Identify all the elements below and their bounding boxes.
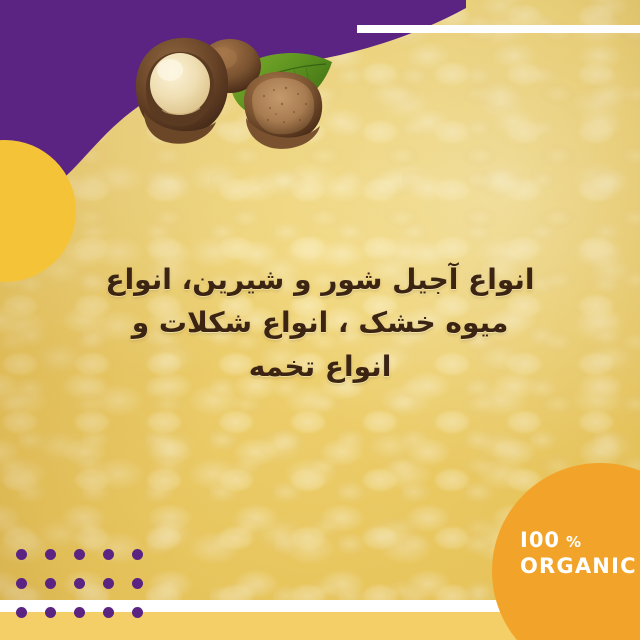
- organic-badge-percent-line: I00%: [520, 528, 640, 552]
- dot: [132, 578, 143, 589]
- headline-line-1: انواع آجیل شور و شیرین، انواع: [60, 258, 580, 301]
- dot: [103, 578, 114, 589]
- organic-badge-text: I00% ORGANIC: [520, 528, 640, 579]
- dot: [16, 607, 27, 618]
- page-title: انواع آجیل شور و شیرین، انواع میوه خشک ،…: [60, 258, 580, 388]
- hazelnuts-image: [118, 26, 362, 156]
- dot: [45, 607, 56, 618]
- organic-badge-word: ORGANIC: [520, 554, 640, 579]
- headline-line-2: میوه خشک ، انواع شکلات و: [60, 301, 580, 344]
- percent-sign: %: [566, 533, 582, 551]
- dot: [45, 549, 56, 560]
- dot: [74, 578, 85, 589]
- dot: [74, 607, 85, 618]
- dot: [16, 578, 27, 589]
- promo-poster: انواع آجیل شور و شیرین، انواع میوه خشک ،…: [0, 0, 640, 640]
- dot: [132, 607, 143, 618]
- dot: [16, 549, 27, 560]
- organic-badge-number: I00: [520, 528, 560, 552]
- dot: [74, 549, 85, 560]
- dot: [132, 549, 143, 560]
- top-white-stripe: [357, 25, 640, 33]
- dot: [45, 578, 56, 589]
- headline-line-3: انواع تخمه: [60, 345, 580, 388]
- dot: [103, 607, 114, 618]
- decorative-dot-grid: [7, 540, 152, 627]
- dot: [103, 549, 114, 560]
